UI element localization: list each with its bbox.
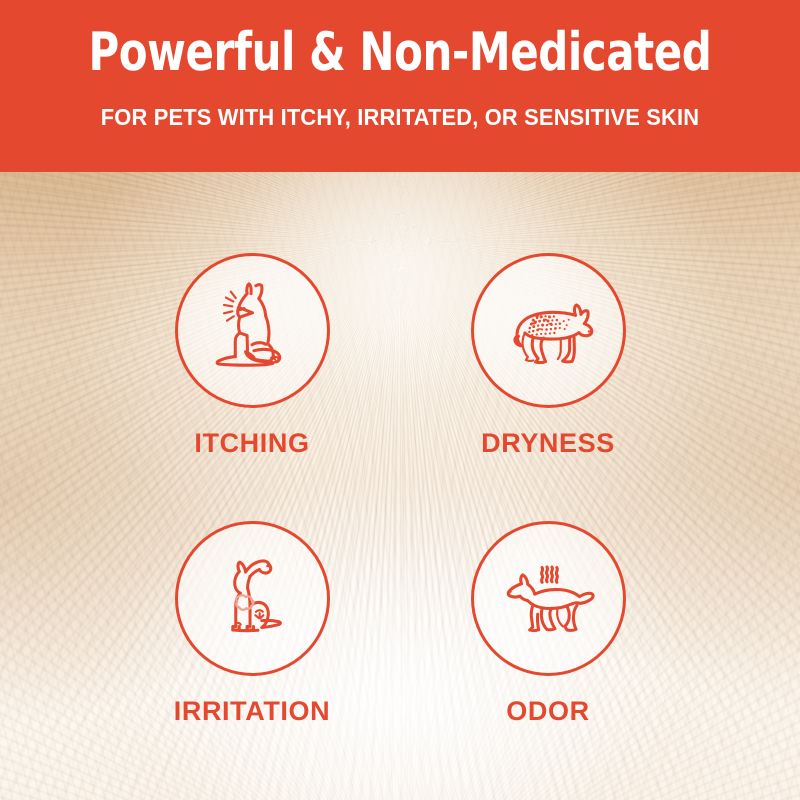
- dog-scratching-icon: [193, 272, 311, 390]
- benefit-item-odor[interactable]: ODOR: [418, 521, 678, 725]
- benefit-item-irritation[interactable]: IRRITATION: [122, 521, 382, 725]
- benefit-label: IRRITATION: [174, 698, 330, 725]
- benefit-item-dryness[interactable]: DRYNESS: [418, 253, 678, 457]
- benefit-label: ODOR: [506, 698, 589, 725]
- benefit-icon-circle: [471, 253, 626, 408]
- dog-irritated-patch-icon: [193, 540, 311, 658]
- dog-flaky-skin-icon: [489, 272, 607, 390]
- page-subtitle: FOR PETS WITH ITCHY, IRRITATED, OR SENSI…: [101, 106, 699, 129]
- header-band: Powerful & Non-Medicated FOR PETS WITH I…: [0, 0, 800, 172]
- benefit-icon-circle: [175, 521, 330, 676]
- benefit-icon-circle: [175, 253, 330, 408]
- benefit-icon-circle: [471, 521, 626, 676]
- page-title: Powerful & Non-Medicated: [89, 26, 712, 79]
- benefit-label: ITCHING: [194, 430, 309, 457]
- product-benefits-poster: Powerful & Non-Medicated FOR PETS WITH I…: [0, 0, 800, 800]
- benefits-grid: ITCHING: [0, 172, 800, 800]
- dog-odor-waves-icon: [489, 540, 607, 658]
- benefit-item-itching[interactable]: ITCHING: [122, 253, 382, 457]
- benefit-label: DRYNESS: [481, 430, 615, 457]
